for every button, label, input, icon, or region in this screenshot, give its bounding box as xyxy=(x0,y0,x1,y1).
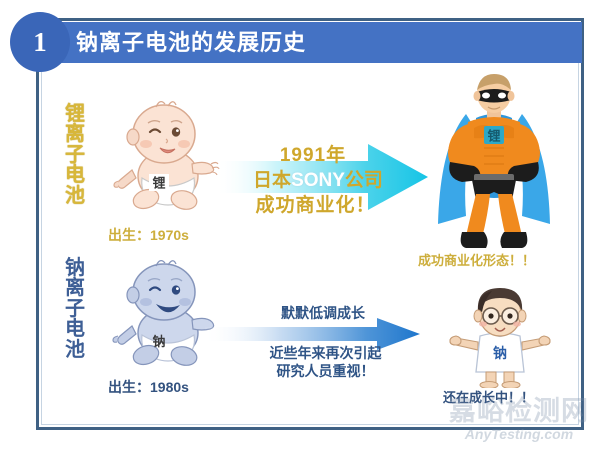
lithium-birth-label: 出生：1970s xyxy=(108,225,189,245)
slide-number-label: 1 xyxy=(10,12,70,72)
superhero-chest-symbol: 锂 xyxy=(487,129,500,144)
sodium-side-label-char-3: 电 xyxy=(60,319,90,339)
lithium-arrow-line1: 1991年 xyxy=(228,140,398,167)
lithium-side-label-char-0: 锂 xyxy=(60,104,90,124)
lithium-arrow-line3: 成功商业化！ xyxy=(228,190,403,217)
sodium-result-caption: 还在成长中！！ xyxy=(443,387,534,406)
lithium-arrow-line2-prefix: 日本 xyxy=(253,170,291,191)
lithium-superhero-illustration: 锂 xyxy=(432,74,556,250)
page-title: 钠离子电池的发展历史 xyxy=(76,24,306,61)
lithium-side-label-char-2: 子 xyxy=(60,145,90,165)
lithium-arrow-line2-suffix: 公司 xyxy=(345,170,383,191)
sodium-side-label-char-0: 钠 xyxy=(60,258,90,278)
sodium-birth-label: 出生：1980s xyxy=(108,377,189,397)
sodium-side-label-char-2: 子 xyxy=(60,299,90,319)
lithium-side-label: 锂 离 子 电 池 xyxy=(60,104,90,206)
lithium-baby-illustration: 锂 xyxy=(112,96,220,220)
sodium-baby-illustration: 钠 xyxy=(112,256,220,374)
lithium-arrow-brand: SONY xyxy=(291,170,345,191)
sodium-side-label-char-1: 离 xyxy=(60,278,90,298)
lithium-side-label-char-1: 离 xyxy=(60,124,90,144)
lithium-side-label-char-4: 池 xyxy=(60,186,90,206)
slide-canvas: 1 钠离子电池的发展历史 锂 离 子 电 池 xyxy=(0,0,600,450)
lithium-result-caption: 成功商业化形态！！ xyxy=(418,250,535,269)
sodium-side-label-char-4: 池 xyxy=(60,340,90,360)
sodium-arrow-line-below: 近些年来再次引起研究人员重视！ xyxy=(238,345,413,380)
sodium-baby-symbol: 钠 xyxy=(152,334,165,349)
lithium-baby-symbol: 锂 xyxy=(152,176,165,191)
sodium-boy-illustration: 钠 xyxy=(444,286,556,388)
lithium-side-label-char-3: 电 xyxy=(60,165,90,185)
boy-shirt-symbol: 钠 xyxy=(493,345,507,361)
lithium-arrow-line2: 日本SONY公司 xyxy=(228,165,408,192)
sodium-side-label: 钠 离 子 电 池 xyxy=(60,258,90,360)
sodium-arrow-line-above: 默默低调成长 xyxy=(248,303,398,323)
